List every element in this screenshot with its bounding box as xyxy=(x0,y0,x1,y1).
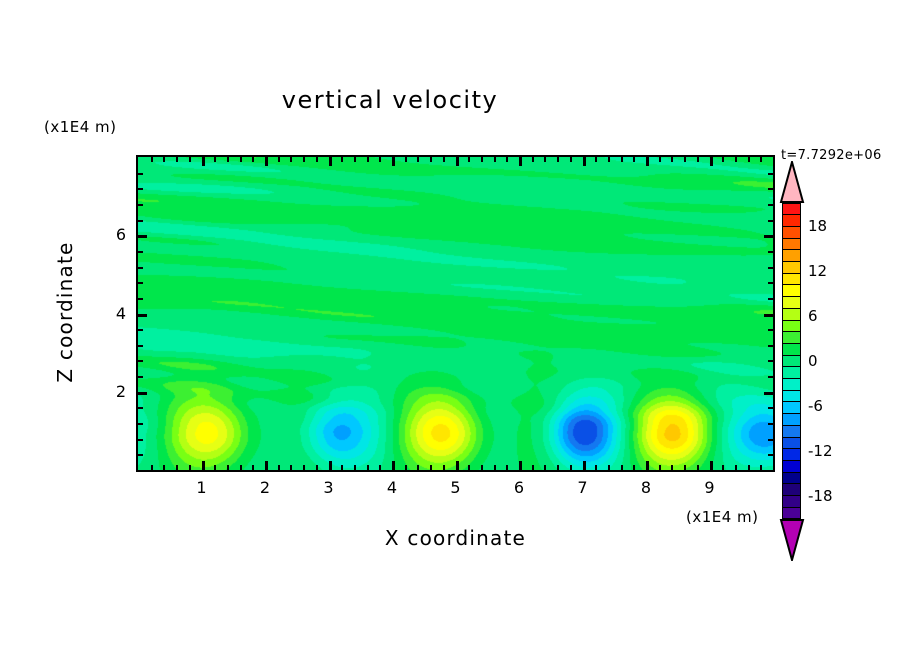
x-tick-label: 2 xyxy=(250,478,280,497)
colorbar-tick-label: 0 xyxy=(808,352,818,370)
x-tick-label: 6 xyxy=(504,478,534,497)
y-tick-label: 2 xyxy=(96,382,126,401)
y-axis-unit-label: (x1E4 m) xyxy=(44,118,117,136)
x-tick-label: 5 xyxy=(441,478,471,497)
colorbar-tick-label: -12 xyxy=(808,442,833,460)
chart-title: vertical velocity xyxy=(0,86,780,114)
x-tick-label: 9 xyxy=(695,478,725,497)
y-tick-label: 4 xyxy=(96,304,126,323)
colorbar-tick-label: 12 xyxy=(808,262,827,280)
x-tick-label: 7 xyxy=(568,478,598,497)
x-axis-title: X coordinate xyxy=(136,526,775,550)
x-axis-unit-label: (x1E4 m) xyxy=(686,508,759,526)
y-axis-title: Z coordinate xyxy=(53,212,77,412)
colorbar-band xyxy=(782,507,801,520)
plot-area xyxy=(136,155,775,472)
colorbar-tick-label: 18 xyxy=(808,217,827,235)
colorbar-over-arrow-icon xyxy=(779,161,805,203)
x-tick-label: 8 xyxy=(631,478,661,497)
colorbar xyxy=(779,203,805,519)
colorbar-tick-label: -6 xyxy=(808,397,823,415)
colorbar-under-arrow-icon xyxy=(779,519,805,561)
colorbar-tick-label: -18 xyxy=(808,487,833,505)
colorbar-tick-label: 6 xyxy=(808,307,818,325)
x-tick-label: 4 xyxy=(377,478,407,497)
x-tick-label: 1 xyxy=(187,478,217,497)
y-tick-label: 6 xyxy=(96,225,126,244)
figure-canvas: vertical velocity (x1E4 m) (x1E4 m) t=7.… xyxy=(0,0,904,654)
x-tick-label: 3 xyxy=(314,478,344,497)
contour-field xyxy=(138,157,773,470)
